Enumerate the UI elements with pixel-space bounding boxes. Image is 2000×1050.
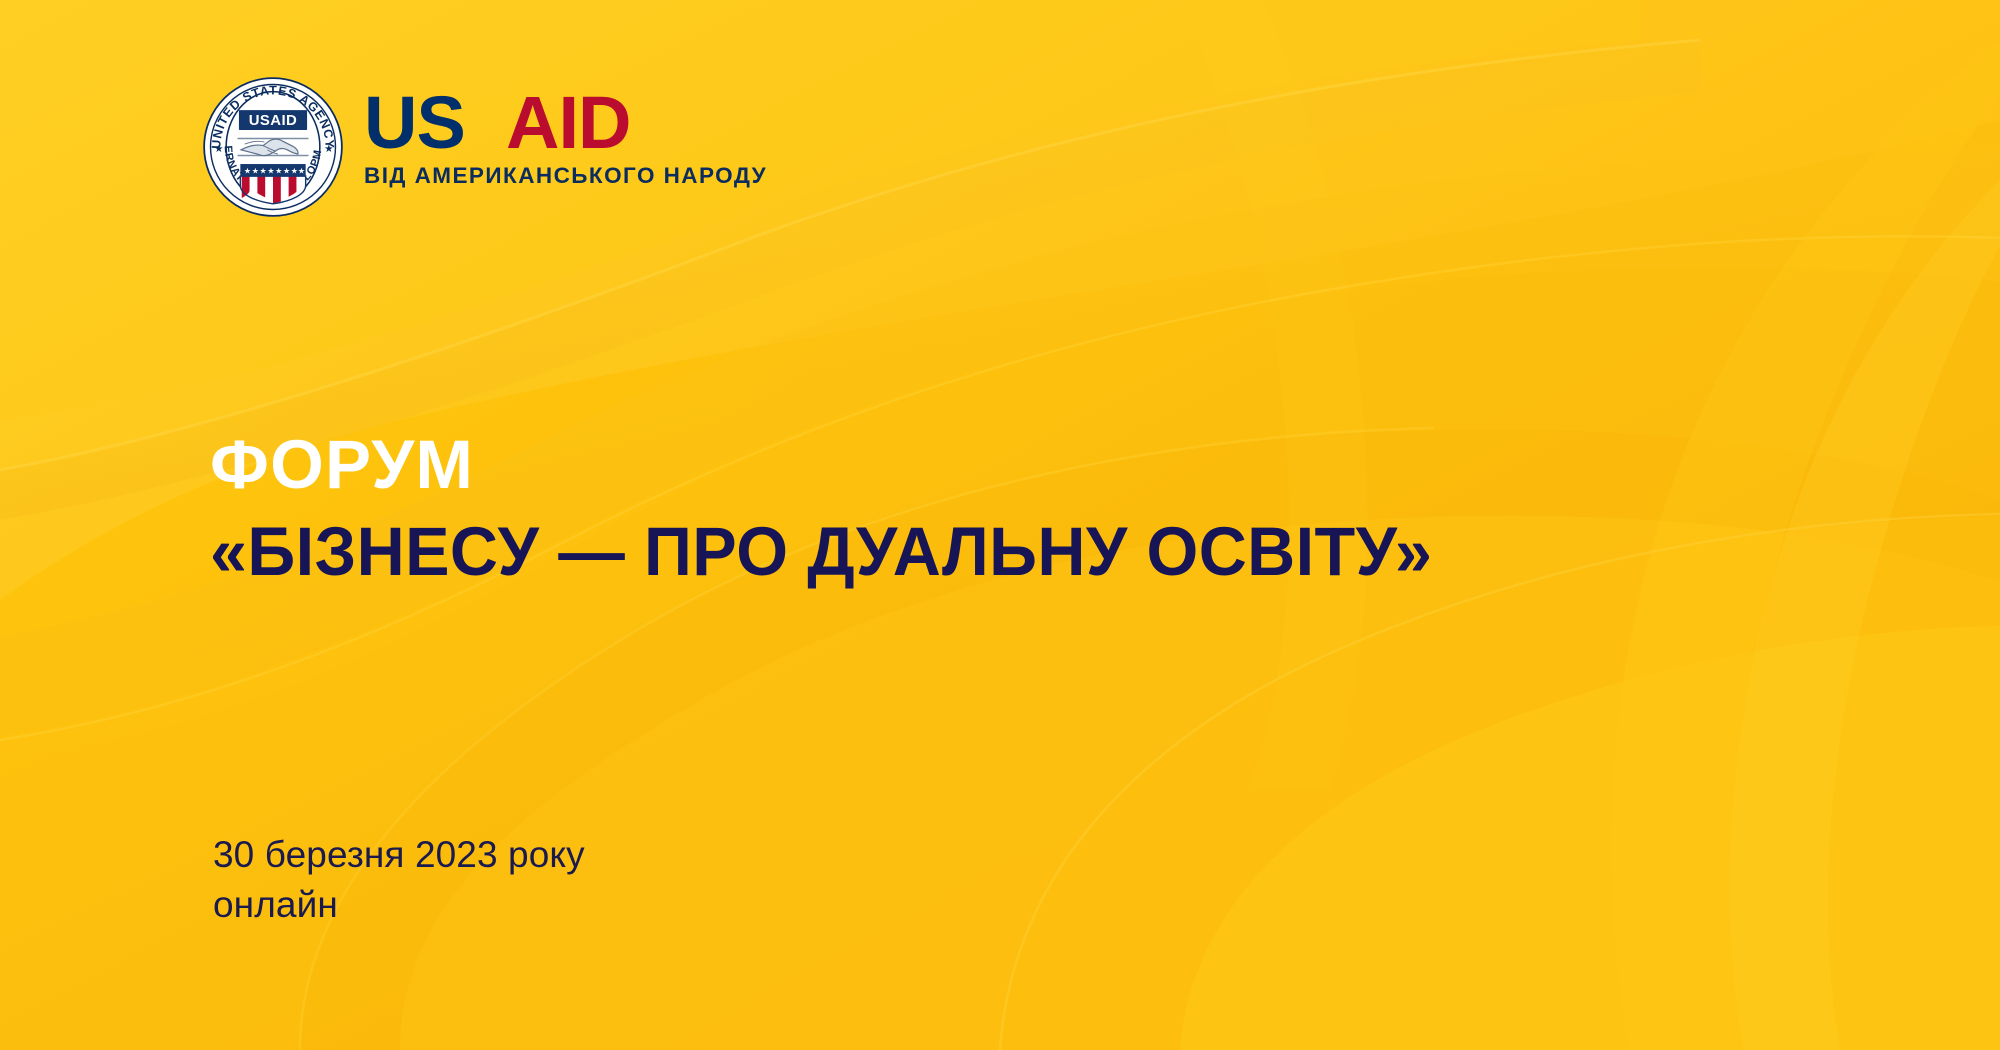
usaid-seal-icon: UNITED STATES AGENCY INTERNATIONAL DEVEL… xyxy=(200,76,346,218)
usaid-wordmark-block: US AID ВІД АМЕРИКАНСЬКОГО НАРОДУ xyxy=(364,76,767,188)
svg-text:★: ★ xyxy=(267,166,274,175)
headline-block: ФОРУМ «БІЗНЕСУ — ПРО ДУАЛЬНУ ОСВІТУ» xyxy=(210,430,1477,586)
forum-kicker: ФОРУМ xyxy=(210,430,1477,499)
event-date: 30 березня 2023 року xyxy=(213,830,585,880)
seal-banner-text: USAID xyxy=(249,113,298,129)
svg-text:★: ★ xyxy=(275,166,282,175)
seal-star-left-icon: ★ xyxy=(214,143,224,155)
usaid-tagline: ВІД АМЕРИКАНСЬКОГО НАРОДУ xyxy=(364,165,767,188)
page-title: «БІЗНЕСУ — ПРО ДУАЛЬНУ ОСВІТУ» xyxy=(210,517,1432,586)
event-format: онлайн xyxy=(213,880,585,930)
stars-and-stripes-shield-icon: ★★ ★★ ★★ ★★ xyxy=(240,164,305,204)
event-details-block: 30 березня 2023 року онлайн xyxy=(213,830,585,931)
usaid-wordmark-us: US xyxy=(364,86,465,164)
svg-text:★: ★ xyxy=(260,166,267,175)
svg-text:★: ★ xyxy=(283,166,290,175)
svg-text:★: ★ xyxy=(252,166,259,175)
svg-text:★: ★ xyxy=(291,166,298,175)
usaid-wordmark: US AID xyxy=(364,86,674,164)
banner-canvas: UNITED STATES AGENCY INTERNATIONAL DEVEL… xyxy=(0,0,2000,1050)
usaid-wordmark-aid: AID xyxy=(506,86,630,164)
svg-text:★: ★ xyxy=(244,166,251,175)
usaid-logo-lockup: UNITED STATES AGENCY INTERNATIONAL DEVEL… xyxy=(200,76,767,218)
svg-text:★: ★ xyxy=(298,166,305,175)
seal-star-right-icon: ★ xyxy=(324,143,334,155)
